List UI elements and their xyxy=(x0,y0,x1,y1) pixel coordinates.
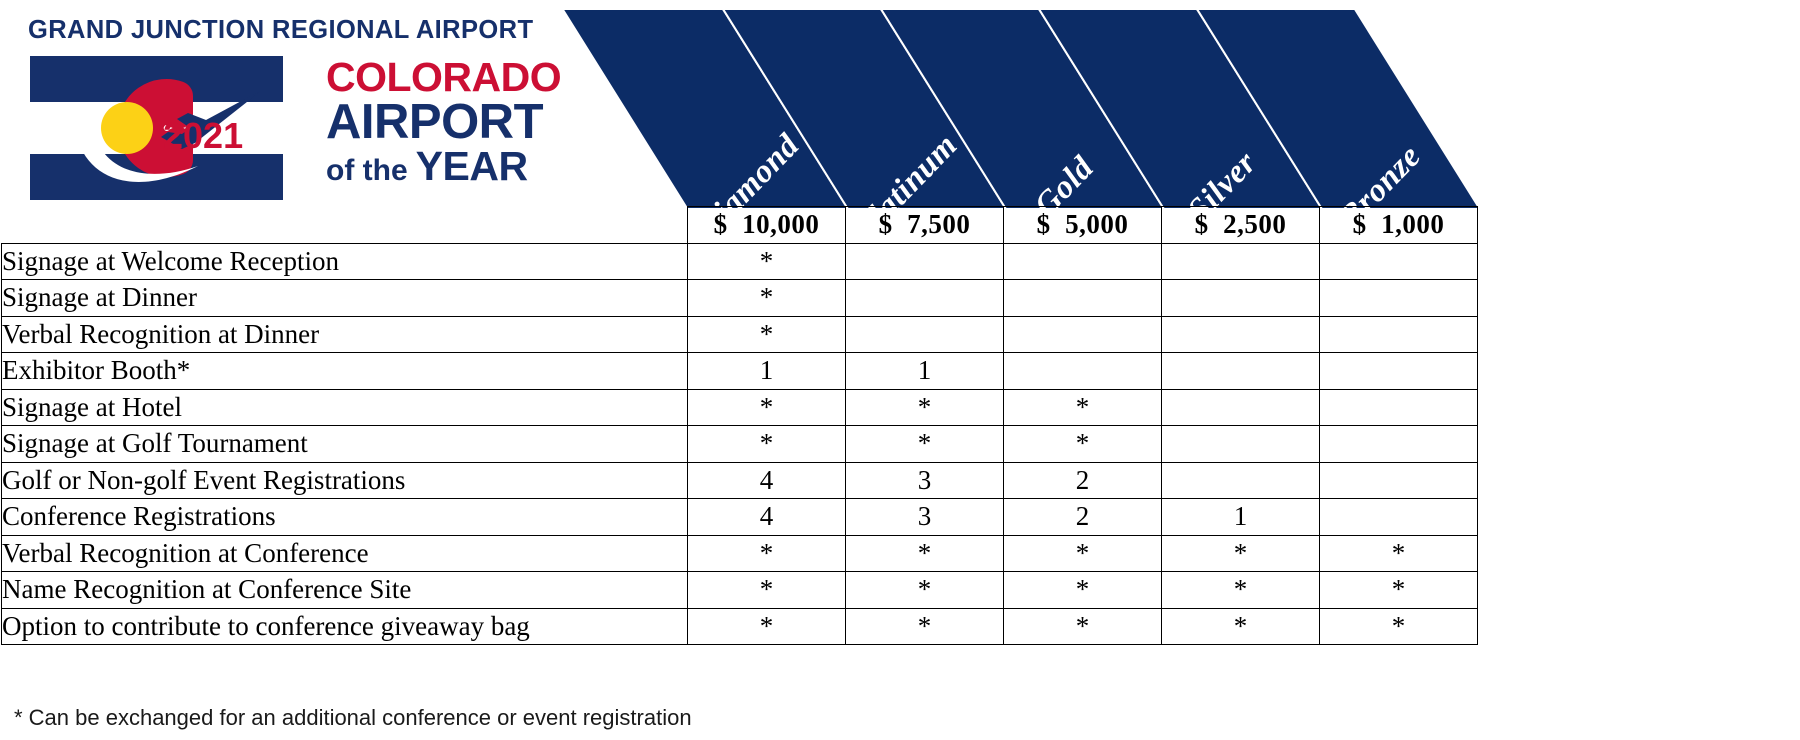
benefit-label: Name Recognition at Conference Site xyxy=(2,572,688,609)
benefit-value-diamond: 1 xyxy=(688,353,846,390)
benefit-value-gold: 2 xyxy=(1004,462,1162,499)
benefit-value-bronze: * xyxy=(1320,572,1478,609)
benefit-label: Golf or Non-golf Event Registrations xyxy=(2,462,688,499)
table-row: Conference Registrations4321 xyxy=(2,499,1478,536)
benefit-value-diamond: 4 xyxy=(688,499,846,536)
benefit-value-bronze xyxy=(1320,243,1478,280)
badge-year-text: 2021 xyxy=(163,115,243,156)
table-body: Signage at Welcome Reception*Signage at … xyxy=(2,243,1478,645)
tier-price-bronze: $ 1,000 xyxy=(1320,207,1478,244)
benefit-value-bronze xyxy=(1320,280,1478,317)
benefit-value-silver xyxy=(1162,243,1320,280)
benefit-label: Signage at Dinner xyxy=(2,280,688,317)
table-row: Signage at Dinner* xyxy=(2,280,1478,317)
benefit-value-diamond: * xyxy=(688,608,846,645)
benefit-value-bronze xyxy=(1320,389,1478,426)
benefit-value-silver xyxy=(1162,353,1320,390)
benefit-value-platinum: * xyxy=(846,572,1004,609)
benefit-value-platinum: * xyxy=(846,389,1004,426)
benefit-value-silver: 1 xyxy=(1162,499,1320,536)
benefit-value-gold: * xyxy=(1004,608,1162,645)
benefit-label: Verbal Recognition at Dinner xyxy=(2,316,688,353)
tier-price-gold: $ 5,000 xyxy=(1004,207,1162,244)
benefit-value-silver xyxy=(1162,316,1320,353)
sponsorship-benefits-table: $ 10,000$ 7,500$ 5,000$ 2,500$ 1,000 Sig… xyxy=(1,206,1478,645)
benefit-value-silver xyxy=(1162,426,1320,463)
benefit-value-platinum xyxy=(846,280,1004,317)
benefit-value-bronze: * xyxy=(1320,535,1478,572)
table-row: Signage at Golf Tournament*** xyxy=(2,426,1478,463)
table-row: Exhibitor Booth*11 xyxy=(2,353,1478,390)
airport-logo-block: GRAND JUNCTION REGIONAL AIRPORT 2021 COL… xyxy=(14,8,674,208)
benefit-label: Exhibitor Booth* xyxy=(2,353,688,390)
colorado-flag-logomark: 2021 xyxy=(30,56,283,200)
benefit-value-platinum xyxy=(846,243,1004,280)
benefit-value-diamond: * xyxy=(688,535,846,572)
award-wordmark: COLORADO AIRPORT of the YEAR xyxy=(326,58,596,187)
benefit-value-gold: * xyxy=(1004,426,1162,463)
colorado-c-yellow-circle xyxy=(101,102,153,154)
table-row: Signage at Welcome Reception* xyxy=(2,243,1478,280)
benefit-value-gold: * xyxy=(1004,389,1162,426)
benefit-value-diamond: * xyxy=(688,316,846,353)
benefit-label: Option to contribute to conference givea… xyxy=(2,608,688,645)
benefit-value-diamond: * xyxy=(688,426,846,463)
benefit-value-bronze xyxy=(1320,499,1478,536)
award-year-text: YEAR xyxy=(416,147,528,187)
tier-price-row: $ 10,000$ 7,500$ 5,000$ 2,500$ 1,000 xyxy=(2,207,1478,244)
award-year-row: of the YEAR xyxy=(326,147,596,187)
benefit-value-silver xyxy=(1162,280,1320,317)
benefit-value-gold: 2 xyxy=(1004,499,1162,536)
benefit-value-platinum: * xyxy=(846,535,1004,572)
benefit-value-diamond: * xyxy=(688,572,846,609)
colorado-flag-svg: 2021 xyxy=(30,56,283,200)
table-row: Name Recognition at Conference Site***** xyxy=(2,572,1478,609)
table-row: Verbal Recognition at Dinner* xyxy=(2,316,1478,353)
tier-price-silver: $ 2,500 xyxy=(1162,207,1320,244)
benefit-value-silver: * xyxy=(1162,572,1320,609)
benefit-label: Signage at Welcome Reception xyxy=(2,243,688,280)
table-row: Option to contribute to conference givea… xyxy=(2,608,1478,645)
table-row: Signage at Hotel*** xyxy=(2,389,1478,426)
footnote-text: * Can be exchanged for an additional con… xyxy=(14,705,692,731)
benefit-label: Signage at Hotel xyxy=(2,389,688,426)
benefit-value-diamond: * xyxy=(688,243,846,280)
benefit-value-bronze xyxy=(1320,462,1478,499)
benefit-value-platinum: * xyxy=(846,608,1004,645)
benefit-value-platinum: 1 xyxy=(846,353,1004,390)
benefit-value-silver: * xyxy=(1162,535,1320,572)
benefit-value-platinum xyxy=(846,316,1004,353)
airport-name-text: GRAND JUNCTION REGIONAL AIRPORT xyxy=(28,16,533,45)
benefit-value-bronze xyxy=(1320,426,1478,463)
benefit-value-silver xyxy=(1162,389,1320,426)
tier-price-platinum: $ 7,500 xyxy=(846,207,1004,244)
benefit-value-diamond: * xyxy=(688,389,846,426)
benefit-value-gold xyxy=(1004,316,1162,353)
benefit-value-silver xyxy=(1162,462,1320,499)
award-airport-text: AIRPORT xyxy=(326,99,596,147)
table-head: $ 10,000$ 7,500$ 5,000$ 2,500$ 1,000 xyxy=(2,207,1478,244)
benefit-label: Conference Registrations xyxy=(2,499,688,536)
benefit-value-gold: * xyxy=(1004,572,1162,609)
benefit-value-bronze xyxy=(1320,316,1478,353)
benefit-value-diamond: * xyxy=(688,280,846,317)
award-of-the-text: of the xyxy=(326,156,408,185)
benefit-value-gold xyxy=(1004,353,1162,390)
benefit-value-bronze xyxy=(1320,353,1478,390)
benefit-value-gold xyxy=(1004,280,1162,317)
benefit-value-bronze: * xyxy=(1320,608,1478,645)
benefit-value-silver: * xyxy=(1162,608,1320,645)
table-row: Golf or Non-golf Event Registrations432 xyxy=(2,462,1478,499)
benefit-value-diamond: 4 xyxy=(688,462,846,499)
tier-header-banner: DiamondPlatinumGoldSilverBronze xyxy=(688,10,1600,208)
benefit-value-gold: * xyxy=(1004,535,1162,572)
benefit-label: Signage at Golf Tournament xyxy=(2,426,688,463)
award-colorado-text: COLORADO xyxy=(326,58,596,98)
benefit-value-platinum: * xyxy=(846,426,1004,463)
tier-price-diamond: $ 10,000 xyxy=(688,207,846,244)
benefit-value-platinum: 3 xyxy=(846,462,1004,499)
benefit-label: Verbal Recognition at Conference xyxy=(2,535,688,572)
benefit-value-gold xyxy=(1004,243,1162,280)
table-row: Verbal Recognition at Conference***** xyxy=(2,535,1478,572)
benefit-value-platinum: 3 xyxy=(846,499,1004,536)
price-row-spacer xyxy=(2,207,688,244)
